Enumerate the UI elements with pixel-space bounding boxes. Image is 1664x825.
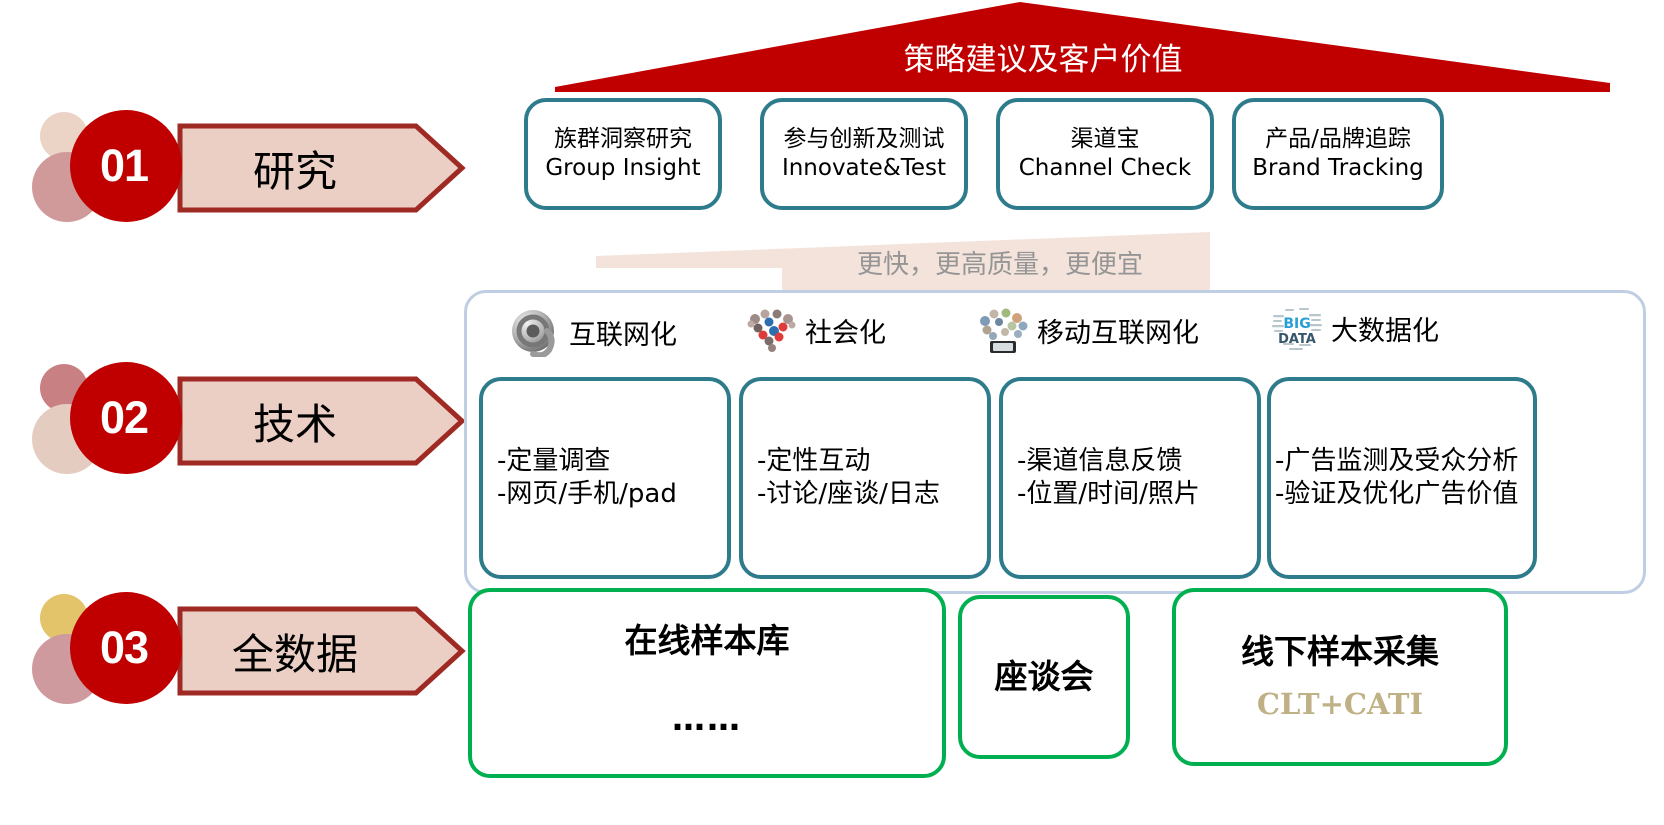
tech-header-3-label: 移动互联网化 [1037,311,1199,350]
research-card-3[interactable]: 渠道宝 Channel Check [996,98,1214,210]
banner-title: 策略建议及客户价值 [520,34,1566,79]
value-chevron-text: 更快，更高质量，更便宜 [810,244,1190,281]
stage-label-technology: 技术 [176,375,414,467]
row-number-03: 03 [70,592,182,704]
stage-label-research: 研究 [176,122,414,214]
data-card-3-title: 线下样本采集 [1241,631,1439,673]
tech-header-1-label: 互联网化 [569,313,677,352]
research-card-3-cn: 渠道宝 [1071,125,1140,154]
tech-header-2: 社会化 [743,305,886,355]
research-card-4-cn: 产品/品牌追踪 [1265,125,1411,154]
technology-container: 互联网化 社会化 [464,290,1646,594]
stage-arrow-technology[interactable]: 技术 [176,375,466,467]
data-card-online-panel[interactable]: 在线样本库 …… [468,588,946,778]
data-card-focus-group[interactable]: 座谈会 [958,595,1130,759]
row-badge-03: 03 [18,586,178,716]
data-card-2-title: 座谈会 [995,656,1094,698]
social-people-heart-icon [743,305,799,355]
stage-arrow-research[interactable]: 研究 [176,122,466,214]
tech-card-4[interactable]: -广告监测及受众分析 -验证及优化广告价值 [1267,377,1537,579]
tech-card-1-line-1: -定量调查 [497,445,610,478]
research-card-2-en: Innovate&Test [782,154,946,183]
research-card-2[interactable]: 参与创新及测试 Innovate&Test [760,98,968,210]
row-badge-02: 02 [18,356,178,486]
tech-card-2-line-2: -讨论/座谈/日志 [757,478,940,511]
research-card-4[interactable]: 产品/品牌追踪 Brand Tracking [1232,98,1444,210]
tech-card-4-line-2: -验证及优化广告价值 [1275,478,1518,511]
data-card-1-dots: …… [672,698,742,740]
tech-header-4-label: 大数据化 [1331,309,1439,348]
research-card-1-cn: 族群洞察研究 [554,125,692,154]
stage-arrow-full-data[interactable]: 全数据 [176,605,466,697]
mobile-people-tablet-icon [975,305,1031,355]
research-card-2-cn: 参与创新及测试 [784,125,945,154]
svg-text:BIG: BIG [1283,316,1310,332]
tech-card-1[interactable]: -定量调查 -网页/手机/pad [479,377,731,579]
strategy-value-banner: 策略建议及客户价值 [520,0,1610,92]
tech-card-3-line-2: -位置/时间/照片 [1017,478,1200,511]
row-badge-01: 01 [18,104,178,234]
value-proposition-chevron: 更快，更高质量，更便宜 [570,228,1210,290]
research-card-3-en: Channel Check [1019,154,1192,183]
tech-header-3: 移动互联网化 [975,305,1199,355]
row-number-02: 02 [70,362,182,474]
big-data-wordcloud-icon: BIG DATA [1269,303,1325,353]
data-card-1-title: 在线样本库 [625,620,790,662]
tech-card-2[interactable]: -定性互动 -讨论/座谈/日志 [739,377,991,579]
research-card-1-en: Group Insight [545,154,700,183]
tech-header-4: BIG DATA 大数据化 [1269,303,1439,353]
tech-header-1: 互联网化 [507,307,677,357]
at-sign-metal-icon [507,307,563,357]
tech-card-1-line-2: -网页/手机/pad [497,478,677,511]
data-card-offline-collection[interactable]: 线下样本采集 CLT+CATI [1172,588,1508,766]
data-card-3-sub: CLT+CATI [1257,686,1423,723]
tech-header-2-label: 社会化 [805,311,886,350]
tech-card-4-line-1: -广告监测及受众分析 [1275,445,1518,478]
tech-card-2-line-1: -定性互动 [757,445,870,478]
tech-card-3[interactable]: -渠道信息反馈 -位置/时间/照片 [999,377,1261,579]
research-card-1[interactable]: 族群洞察研究 Group Insight [524,98,722,210]
tech-card-3-line-1: -渠道信息反馈 [1017,445,1182,478]
row-number-01: 01 [70,110,182,222]
diagram-canvas: 策略建议及客户价值 更快，更高质量，更便宜 01 研究 族群洞察研究 Group… [0,0,1664,825]
svg-text:DATA: DATA [1278,332,1316,347]
stage-label-full-data: 全数据 [176,605,414,697]
research-card-4-en: Brand Tracking [1252,154,1424,183]
